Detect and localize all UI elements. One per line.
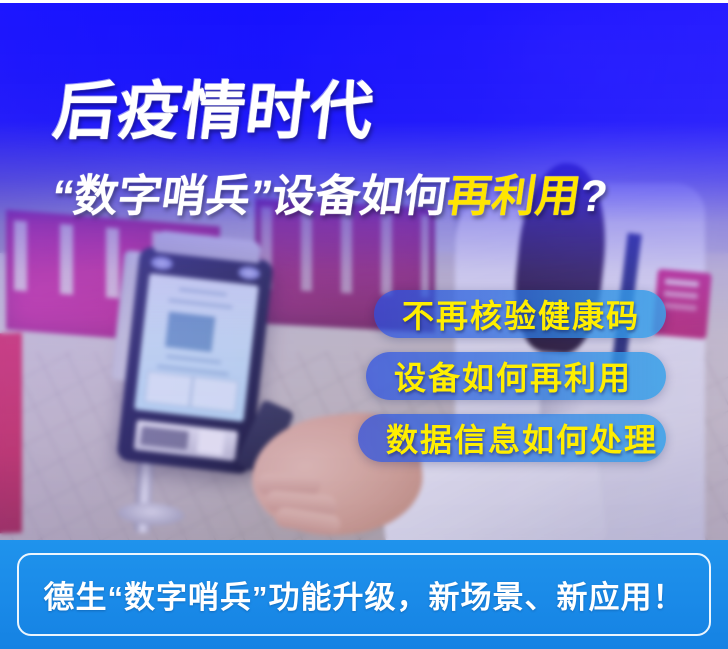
subtitle-highlight: 再利用 [445,172,584,221]
page-title: 后疫情时代 [50,80,378,146]
feature-pill-2[interactable]: 设备如何再利用 [366,352,666,400]
bottom-banner: 德生“数字哨兵”功能升级，新场景、新应用！ [0,540,728,649]
page-subtitle: “数字哨兵”设备如何再利用? [49,174,610,220]
feature-pill-1[interactable]: 不再核验健康码 [374,290,666,338]
top-hairline [0,0,728,3]
feature-pill-3-label: 数据信息如何处理 [358,415,658,461]
subtitle-lead: “数字哨兵”设备如何 [49,172,452,221]
feature-pill-2-label: 设备如何再利用 [366,353,632,399]
banner-text: 德生“数字哨兵”功能升级，新场景、新应用！ [44,572,685,617]
feature-pill-3[interactable]: 数据信息如何处理 [358,414,666,462]
feature-pill-1-label: 不再核验健康码 [374,291,640,337]
banner-frame: 德生“数字哨兵”功能升级，新场景、新应用！ [17,553,711,636]
promo-poster: 后疫情时代 “数字哨兵”设备如何再利用? 不再核验健康码 设备如何再利用 数据信… [0,0,728,649]
